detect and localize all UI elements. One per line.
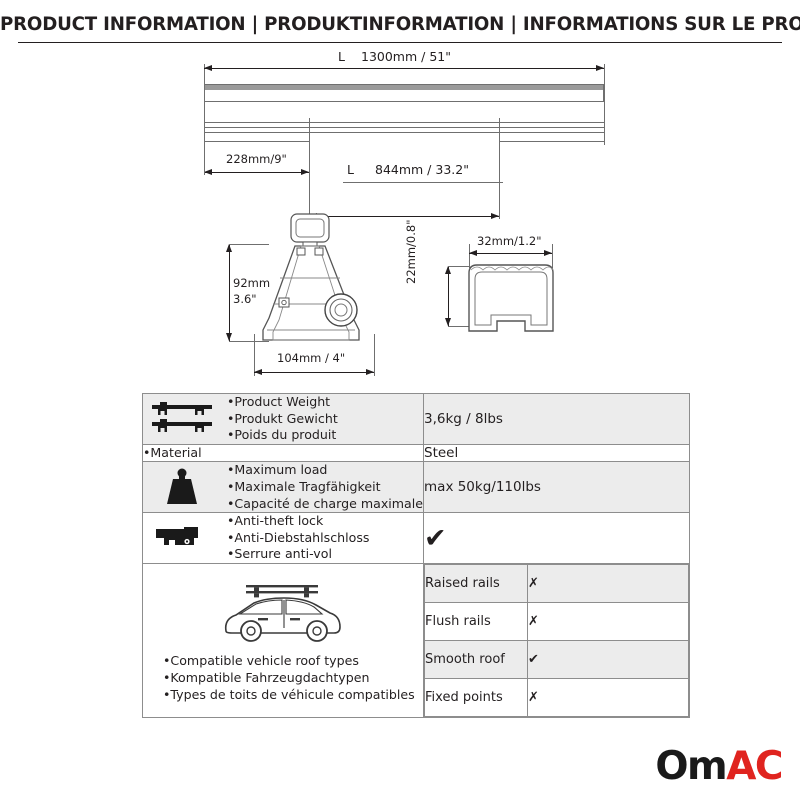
- foot-offset-label: 228mm/9": [226, 152, 287, 166]
- compat-value-cross-icon: ✗: [528, 565, 689, 603]
- topview-edge-left: [204, 118, 205, 145]
- span-ext-left: [309, 145, 310, 219]
- compat-row: Fixed points ✗: [425, 679, 689, 717]
- table-row: •Maximum load •Maximale Tragfähigkeit •C…: [143, 462, 690, 513]
- foot-width-ext-right: [374, 334, 375, 376]
- label-line-en: •Anti-theft lock: [227, 513, 423, 530]
- profile-height-dimension-line: [448, 266, 449, 326]
- label-line-fr: •Serrure anti-vol: [227, 546, 423, 563]
- label-line-fr: •Poids du produit: [227, 427, 423, 444]
- row-value-material: Steel: [424, 444, 690, 462]
- row-value-product-weight: 3,6kg / 8lbs: [424, 394, 690, 445]
- profile-width-label: 32mm/1.2": [477, 234, 542, 248]
- label-line-de: •Produkt Gewicht: [227, 411, 423, 428]
- logo-text-red: AC: [726, 744, 782, 789]
- span-label-underline: [343, 182, 503, 183]
- topview-line-5: [499, 141, 604, 142]
- offset-ext-left: [204, 145, 205, 175]
- profile-cross-section: [463, 259, 563, 339]
- foot-height-mm-label: 92mm: [233, 276, 270, 290]
- label-line-en: •Material: [143, 445, 423, 462]
- bar-length-dimension-line: [204, 68, 604, 69]
- topview-line-3: [204, 132, 604, 133]
- foot-height-dimension-line: [229, 244, 230, 341]
- span-ext-right: [499, 145, 500, 219]
- row-label-text: •Maximum load •Maximale Tragfähigkeit •C…: [227, 462, 423, 512]
- value-text: max 50kg/110lbs: [424, 479, 541, 495]
- row-value-maximum-load: max 50kg/110lbs: [424, 462, 690, 513]
- label-line-fr: •Capacité de charge maximale: [227, 496, 423, 513]
- bar-length-prefix: L: [338, 49, 345, 64]
- extension-line-right: [604, 64, 605, 126]
- compat-name: Smooth roof: [425, 641, 528, 679]
- compatibility-options: Raised rails ✗ Flush rails ✗ Smooth roof…: [424, 564, 690, 718]
- topview-line-2: [204, 127, 604, 128]
- span-length-label: 844mm / 33.2": [375, 162, 469, 177]
- lock-icon: [143, 523, 221, 553]
- compat-value-check-icon: ✔: [528, 641, 689, 679]
- label-line-de: •Maximale Tragfähigkeit: [227, 479, 423, 496]
- foot-mark-right: [499, 118, 500, 145]
- logo-text-dark: Om: [655, 744, 726, 789]
- foot-width-label: 104mm / 4": [277, 351, 345, 365]
- profile-width-dimension-line: [469, 253, 552, 254]
- label-line-en: •Product Weight: [227, 394, 423, 411]
- table-row-compatibility: •Compatible vehicle roof types •Kompatib…: [143, 564, 690, 718]
- compatibility-label-text: •Compatible vehicle roof types •Kompatib…: [143, 653, 423, 704]
- profile-height-label: 22mm/0.8": [404, 220, 418, 285]
- label-line-de: •Anti-Diebstahlschloss: [227, 530, 423, 547]
- foot-offset-dimension-line: [204, 172, 309, 173]
- table-row: •Material Steel: [143, 444, 690, 462]
- page-title: PRODUCT INFORMATION | PRODUKTINFORMATION…: [0, 14, 800, 35]
- span-prefix-label: L: [347, 162, 354, 177]
- foot-mark-left: [309, 118, 310, 145]
- omac-logo: OmAC: [655, 747, 782, 786]
- row-label-maximum-load: •Maximum load •Maximale Tragfähigkeit •C…: [143, 462, 424, 513]
- row-label-compatibility: •Compatible vehicle roof types •Kompatib…: [143, 564, 424, 718]
- label-line-de: •Kompatible Fahrzeugdachtypen: [163, 670, 423, 687]
- compat-row: Raised rails ✗: [425, 565, 689, 603]
- label-line-en: •Compatible vehicle roof types: [163, 653, 423, 670]
- compat-value-cross-icon: ✗: [528, 603, 689, 641]
- table-row: •Anti-theft lock •Anti-Diebstahlschloss …: [143, 513, 690, 564]
- topview-edge-right: [604, 118, 605, 145]
- compat-name: Fixed points: [425, 679, 528, 717]
- crossbar-top-face: [205, 85, 603, 90]
- compatibility-table: Raised rails ✗ Flush rails ✗ Smooth roof…: [424, 564, 689, 717]
- compat-name: Raised rails: [425, 565, 528, 603]
- row-label-text: •Anti-theft lock •Anti-Diebstahlschloss …: [227, 513, 423, 563]
- row-label-material: •Material: [143, 444, 424, 462]
- label-line-fr: •Types de toits de véhicule compatibles: [163, 687, 423, 704]
- foot-width-dimension-line: [254, 372, 374, 373]
- compat-row: Smooth roof ✔: [425, 641, 689, 679]
- table-row: •Product Weight •Produkt Gewicht •Poids …: [143, 394, 690, 445]
- foot-front-view: [255, 212, 375, 357]
- crossbars-icon: [143, 401, 221, 437]
- label-line-en: •Maximum load: [227, 462, 423, 479]
- row-label-anti-theft-lock: •Anti-theft lock •Anti-Diebstahlschloss …: [143, 513, 424, 564]
- foot-height-in-label: 3.6": [233, 292, 257, 306]
- foot-height-ext-bottom: [229, 341, 269, 342]
- title-divider: [18, 42, 782, 43]
- foot-height-ext-top: [229, 244, 269, 245]
- compat-value-cross-icon: ✗: [528, 679, 689, 717]
- row-label-text: •Product Weight •Produkt Gewicht •Poids …: [227, 394, 423, 444]
- row-value-anti-theft-lock: ✔: [424, 513, 690, 564]
- checkmark-icon: ✔: [424, 523, 447, 554]
- topview-line-4: [204, 141, 309, 142]
- car-with-roof-rack-icon: [143, 581, 423, 651]
- weight-icon: [143, 467, 221, 507]
- value-text: Steel: [424, 445, 458, 461]
- row-label-product-weight: •Product Weight •Produkt Gewicht •Poids …: [143, 394, 424, 445]
- specification-table: •Product Weight •Produkt Gewicht •Poids …: [142, 393, 690, 718]
- row-label-text: •Material: [143, 445, 423, 462]
- value-text: 3,6kg / 8lbs: [424, 411, 503, 427]
- bar-length-label: 1300mm / 51": [361, 49, 451, 64]
- compat-name: Flush rails: [425, 603, 528, 641]
- compat-row: Flush rails ✗: [425, 603, 689, 641]
- topview-line-1: [204, 122, 604, 123]
- technical-drawing: L 1300mm / 51" 228mm/9" L 844mm / 33.2": [0, 44, 800, 384]
